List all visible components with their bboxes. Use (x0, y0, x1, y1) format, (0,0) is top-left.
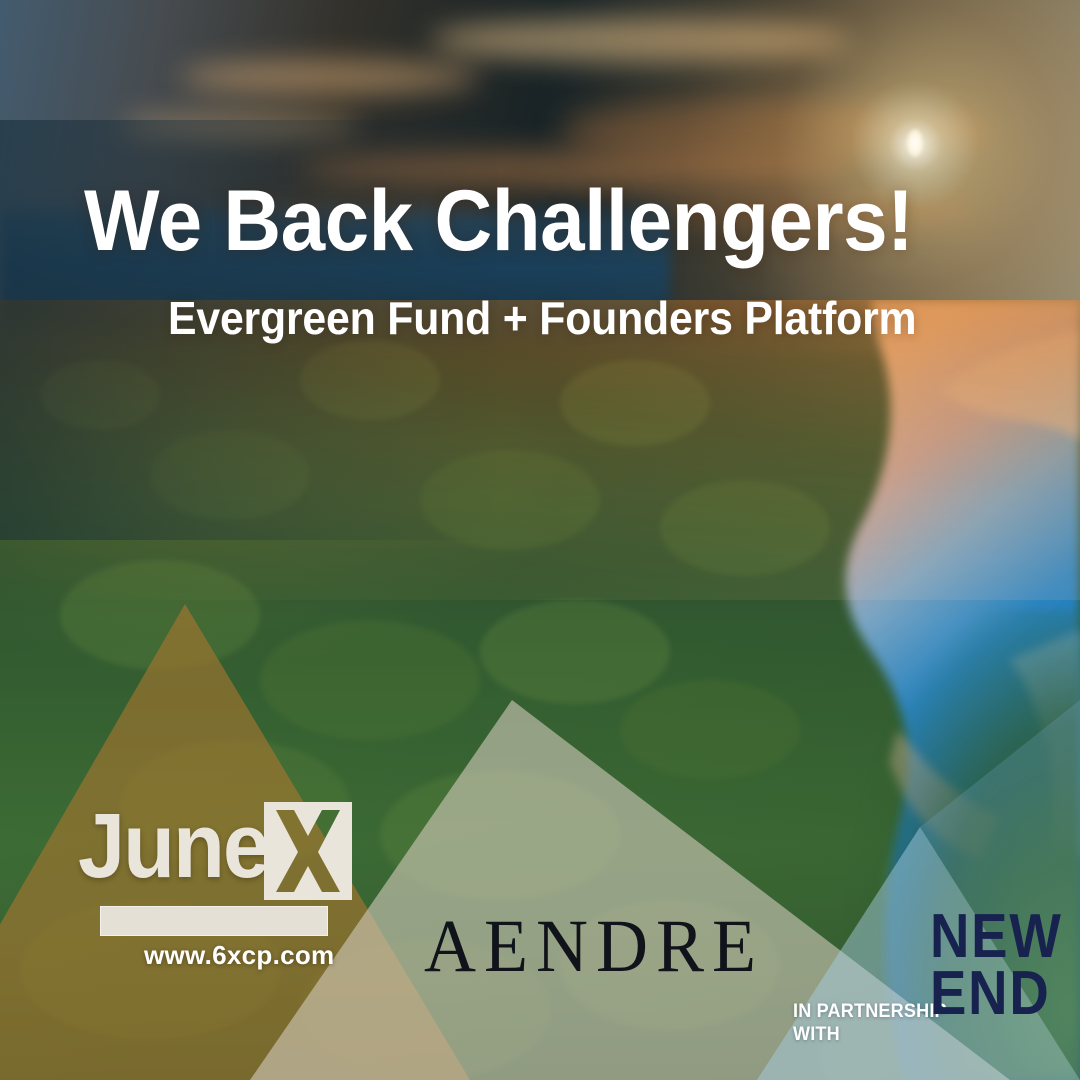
partnership-line-2: WITH (793, 1024, 840, 1045)
junex-logo[interactable]: June CAPITAL PARTNERS (78, 800, 378, 990)
junex-wordmark: June (78, 800, 268, 892)
poster-canvas: We Back Challengers! Evergreen Fund + Fo… (0, 0, 1080, 1080)
junex-tagline-band: CAPITAL PARTNERS (100, 906, 328, 936)
partnership-line-1: IN PARTNERSHIP (793, 1001, 947, 1022)
junex-website[interactable]: www.6xcp.com (144, 940, 334, 971)
sun-icon (907, 129, 923, 157)
partnership-label: IN PARTNERSHIP WITH (793, 1000, 947, 1046)
newend-line-2: END (930, 965, 1063, 1022)
aendre-logo[interactable]: AENDRE (424, 908, 764, 984)
page-title: We Back Challengers! (84, 178, 958, 264)
forest-light-overlay (0, 300, 1080, 600)
x-monogram-icon (264, 802, 352, 900)
newend-logo[interactable]: NEW END (930, 908, 1063, 1022)
page-subtitle: Evergreen Fund + Founders Platform (168, 294, 916, 342)
